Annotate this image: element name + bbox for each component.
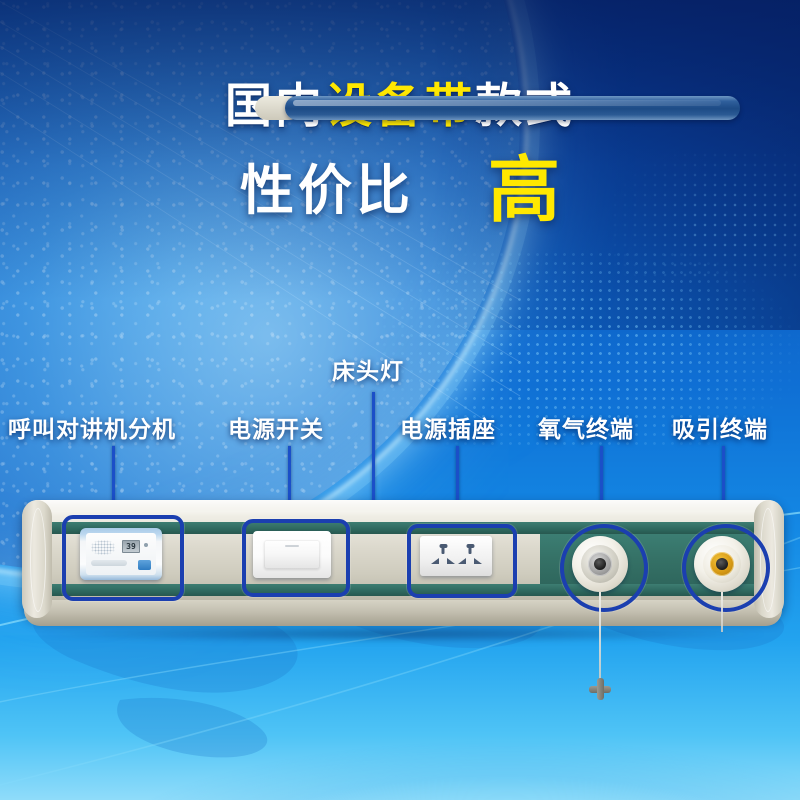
- equipment-rail: [285, 96, 740, 120]
- highlight-box-oxygen: [560, 524, 648, 612]
- panel-bottom-lip: [24, 600, 782, 626]
- highlight-box-intercom: [62, 515, 184, 601]
- highlight-box-power-switch: [242, 519, 350, 597]
- highlight-box-suction: [682, 524, 770, 612]
- oxygen-pull-cord[interactable]: [599, 592, 601, 684]
- rail-highlight: [293, 100, 721, 106]
- callout-label-suction: 吸引终端: [672, 418, 768, 441]
- suction-pull-cord[interactable]: [721, 592, 723, 632]
- leader-line-power-switch: [288, 446, 291, 508]
- panel-top-highlight: [22, 500, 784, 516]
- bottom-horizon-glow: [0, 640, 800, 800]
- panel-end-cap-left: [22, 500, 52, 618]
- cord-handle-bar-vertical: [597, 678, 604, 700]
- leader-line-power-socket: [456, 446, 459, 508]
- leader-line-intercom: [112, 446, 115, 508]
- callout-label-power-switch: 电源开关: [228, 418, 324, 441]
- promo-banner: 国内设备带款式 性价比高 呼叫对讲机分机 电源开关 床头灯 电源插座 氧气终端 …: [0, 0, 800, 800]
- callout-label-intercom: 呼叫对讲机分机: [8, 418, 176, 441]
- callout-label-oxygen: 氧气终端: [538, 418, 634, 441]
- end-cap-ring-left: [30, 508, 46, 612]
- halftone-world-map-secondary: [610, 150, 800, 280]
- highlight-box-power-socket: [407, 524, 517, 598]
- oxygen-cord-handle[interactable]: [589, 678, 611, 700]
- callout-label-bed-lamp: 床头灯: [332, 360, 404, 383]
- callout-label-power-socket: 电源插座: [400, 418, 496, 441]
